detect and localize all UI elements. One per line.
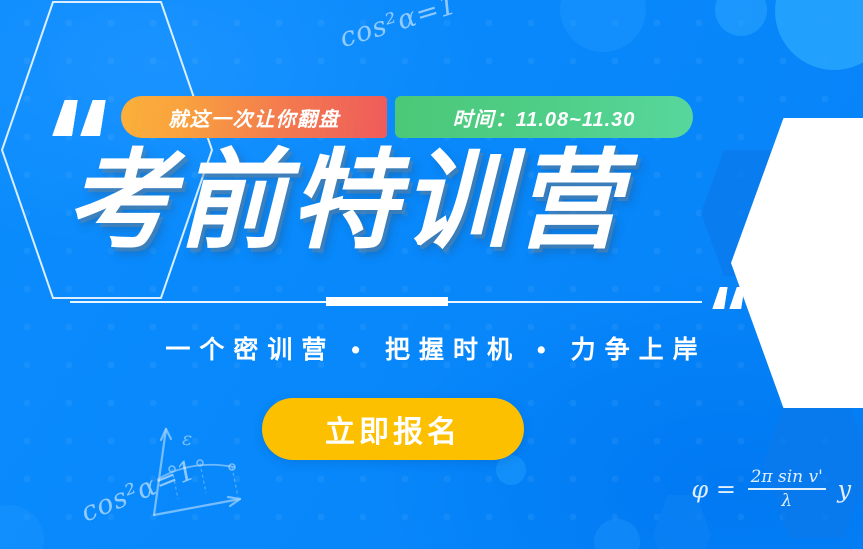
divider-accent-block [326,297,448,306]
quote-open-icon [55,100,103,141]
promo-badge: 就这一次让你翻盘 [121,96,387,138]
promo-banner: cos²α=1 cos²α=1 ε φ = 2π sin v' λ y [0,0,863,549]
quote-open-small-icon [714,287,743,314]
badge-row: 就这一次让你翻盘 时间：11.08~11.30 [121,96,693,138]
subtitle: 一个密训营 • 把握时机 • 力争上岸 [0,330,863,366]
signup-button[interactable]: 立即报名 [262,398,524,460]
divider [70,300,702,304]
date-badge: 时间：11.08~11.30 [395,96,693,138]
banner-content: 就这一次让你翻盘 时间：11.08~11.30 考前特训营 一个密训营 • 把握… [0,0,863,549]
page-title: 考前特训营 [66,141,746,261]
